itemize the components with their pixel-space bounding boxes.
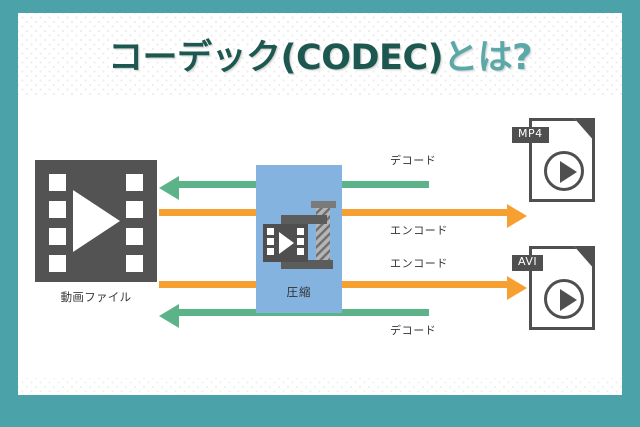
arrow-head-bottom-encode	[507, 276, 527, 300]
format-tag-mp4: MP4	[512, 127, 549, 143]
arrow-head-bottom-decode	[159, 304, 179, 328]
arrow-label-bottom-encode: エンコード	[390, 255, 448, 271]
play-triangle-icon	[73, 190, 120, 252]
arrow-head-top-encode	[507, 204, 527, 228]
film-sprocket	[126, 201, 143, 218]
output-file-avi: AVI	[529, 246, 595, 330]
codec-flow-diagram: 動画ファイル デコード エンコード エンコード デコード	[18, 96, 622, 378]
page-title: コーデック(CODEC)とは?	[18, 29, 622, 80]
arrow-label-bottom-decode: デコード	[390, 322, 436, 338]
film-sprocket	[49, 255, 66, 272]
film-frame-graphic	[35, 160, 157, 282]
arrow-label-top-decode: デコード	[390, 152, 436, 168]
dotted-texture-bottom	[18, 378, 622, 395]
film-sprocket	[49, 228, 66, 245]
film-sprocket	[126, 255, 143, 272]
arrow-label-top-encode: エンコード	[390, 222, 448, 238]
film-sprocket	[49, 174, 66, 191]
video-file-caption: 動画ファイル	[35, 289, 157, 305]
format-tag-avi: AVI	[512, 255, 543, 271]
film-sprocket	[126, 174, 143, 191]
play-triangle-icon	[560, 289, 577, 311]
document-fold-corner-icon	[574, 246, 595, 270]
output-file-mp4: MP4	[529, 118, 595, 202]
play-triangle-icon	[560, 161, 577, 183]
film-sprocket	[126, 228, 143, 245]
arrow-head-top-decode	[159, 176, 179, 200]
codec-compression-box: 圧縮	[256, 165, 342, 313]
compression-press-icon	[261, 199, 339, 277]
video-file-icon: 動画ファイル	[35, 160, 157, 305]
content-card: コーデック(CODEC)とは? 動画ファイル デコード	[18, 13, 622, 395]
title-main-text: コーデック(CODEC)	[108, 29, 443, 80]
document-fold-corner-icon	[574, 118, 595, 142]
compression-label: 圧縮	[256, 284, 342, 300]
poster-root: コーデック(CODEC)とは? 動画ファイル デコード	[0, 0, 640, 427]
film-sprocket	[49, 201, 66, 218]
title-tail-text: とは?	[443, 29, 532, 80]
